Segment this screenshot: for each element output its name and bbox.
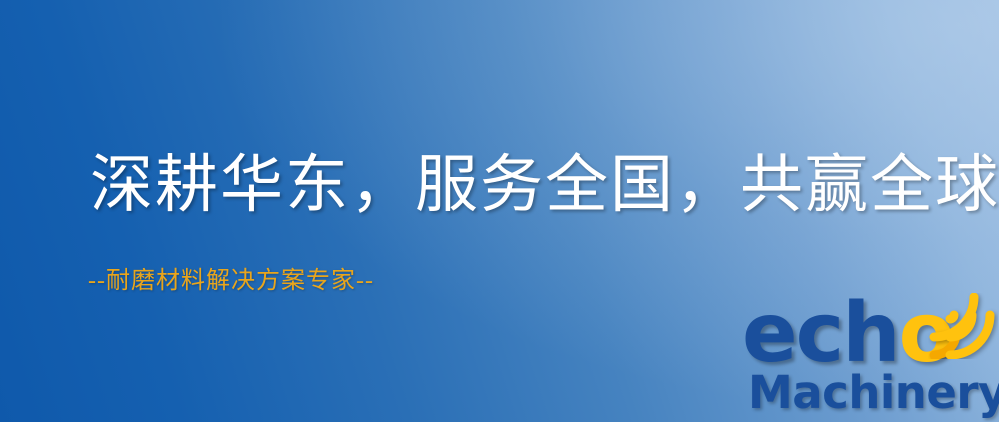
- banner-subtitle: --耐磨材料解决方案专家--: [88, 269, 374, 293]
- echo-machinery-logo[interactable]: ech o Machinery ®: [742, 296, 999, 422]
- logo-wordmark-ech: ech: [742, 296, 899, 371]
- signal-waves-icon: [928, 293, 998, 359]
- logo-tagline: Machinery ®: [748, 370, 999, 415]
- banner-headline: 深耕华东，服务全国，共赢全球: [90, 154, 999, 217]
- logo-tagline-text: Machinery: [748, 370, 999, 415]
- hero-banner: 深耕华东，服务全国，共赢全球 --耐磨材料解决方案专家-- ech o Mach…: [0, 0, 999, 422]
- logo-wordmark: ech o: [742, 296, 953, 372]
